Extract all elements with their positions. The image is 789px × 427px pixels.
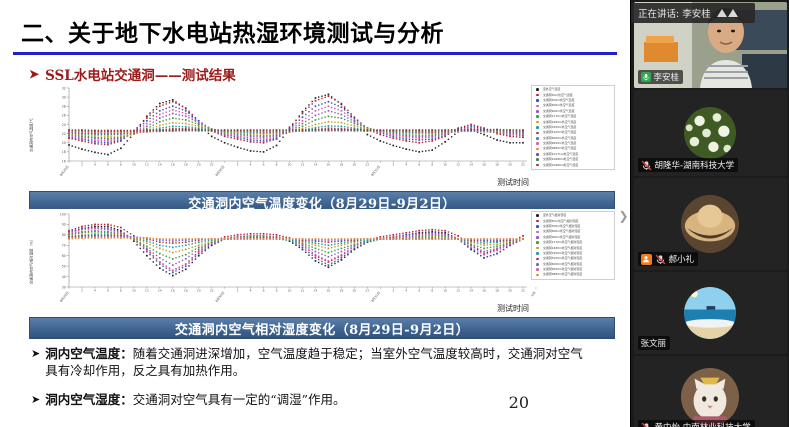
mic-muted-icon [641,422,652,427]
svg-text:2: 2 [81,162,83,166]
legend-color-swatch [534,252,541,255]
svg-text:20: 20 [508,162,512,166]
svg-text:22: 22 [521,288,525,292]
svg-text:22: 22 [521,162,525,166]
svg-text:12: 12 [301,288,305,292]
svg-text:22: 22 [365,162,369,166]
svg-text:30: 30 [62,285,66,289]
list-item: ➤ 洞内空气温度：随着交通洞进深增加，空气温度趋于稳定；当室外空气温度较高时，交… [31,345,591,379]
svg-text:14: 14 [158,162,162,166]
svg-text:16: 16 [62,159,66,163]
participant-name: 郝小礼 [669,253,695,265]
svg-text:2: 2 [392,162,394,166]
legend-label: 交通洞9880m处空气温度 [543,146,576,151]
svg-text:10: 10 [288,162,292,166]
svg-text:16: 16 [171,288,175,292]
bullet-term: 洞内空气湿度： [45,392,133,407]
list-item: ➤ 洞内空气湿度：交通洞对空气具有一定的“调湿”作用。 [31,391,591,408]
svg-text:12: 12 [456,288,460,292]
legend-color-swatch [534,110,541,113]
screen-root: 二、关于地下水电站热湿环境测试与分析 ➤ SSL水电站交通洞——测试结果 161… [0,0,789,427]
slide-title-box: 二、关于地下水电站热湿环境测试与分析 [13,9,617,55]
svg-text:18: 18 [339,288,343,292]
participant-name-chip: 李安桂 [638,70,684,84]
svg-text:60: 60 [62,254,66,258]
temperature-chart-legend: 室外空气温度交通洞50m处空气温度交通洞300m处空气温度交通洞600m处空气温… [531,85,615,170]
legend-color-swatch [534,153,541,156]
avatar [684,107,736,159]
svg-text:8: 8 [120,162,122,166]
svg-text:12: 12 [145,162,149,166]
legend-color-swatch [534,137,541,140]
svg-text:4: 4 [405,162,407,166]
svg-text:18: 18 [62,150,66,154]
svg-text:10: 10 [132,162,136,166]
legend-color-swatch [534,115,541,118]
svg-text:2: 2 [81,288,83,292]
svg-text:16: 16 [327,288,331,292]
svg-text:8: 8 [276,162,278,166]
svg-text:16: 16 [482,288,486,292]
active-speaker-banner: 正在讲话: 李安桂 [631,3,755,23]
shared-screen-slide: 二、关于地下水电站热湿环境测试与分析 ➤ SSL水电站交通洞——测试结果 161… [0,0,630,427]
participant-tile-list: 李安桂胡隆华-湖南科技大学郝小礼张文丽黄中怡 中南林业科技大学 [631,2,789,427]
legend-label: 交通洞2480m处空气温度 [543,120,576,125]
svg-text:14: 14 [469,162,473,166]
svg-text:4: 4 [94,288,96,292]
participant-name: 李安桂 [654,71,680,83]
legend-color-swatch [534,104,541,107]
legend-color-swatch [534,236,541,239]
svg-text:70: 70 [62,244,66,248]
legend-color-swatch [534,164,541,167]
participant-tile[interactable]: 张文丽 [634,272,787,354]
legend-color-swatch [534,142,541,145]
slide-subheading-text: SSL水电站交通洞——测试结果 [45,64,236,84]
participant-name-chip: 黄中怡 中南林业科技大学 [638,420,755,427]
legend-color-swatch [534,99,541,102]
svg-text:24: 24 [62,123,66,127]
svg-text:32: 32 [62,86,66,90]
svg-text:8: 8 [276,288,278,292]
bullet-term: 洞内空气温度： [45,346,133,361]
svg-text:6: 6 [107,288,109,292]
svg-text:2: 2 [237,288,239,292]
legend-label: 室外空气温度 [543,87,560,92]
svg-text:8月31日: 8月31日 [370,291,381,303]
svg-text:26: 26 [62,114,66,118]
avatar [681,195,739,253]
legend-color-swatch [534,131,541,134]
svg-text:22: 22 [210,162,214,166]
svg-text:8月31日: 8月31日 [370,165,381,177]
legend-color-swatch [534,247,541,250]
legend-color-swatch [534,121,541,124]
mic-muted-icon [655,254,666,265]
legend-color-swatch [534,225,541,228]
svg-text:6: 6 [418,288,420,292]
legend-label: 交通洞6000m处空气温度 [543,136,576,141]
legend-color-swatch [534,220,541,223]
participant-name: 黄中怡 中南林业科技大学 [655,421,751,427]
chevron-right-icon[interactable]: ❯ [617,203,630,229]
svg-text:18: 18 [495,162,499,166]
svg-text:22: 22 [62,132,66,136]
avatar [681,368,739,426]
legend-color-swatch [534,257,541,260]
svg-text:20: 20 [62,141,66,145]
participant-tile[interactable]: 黄中怡 中南林业科技大学 [634,356,787,427]
participant-name-chip: 郝小礼 [638,252,699,266]
temperature-chart-plot: 1618202224262830328月29日24681012141618202… [29,83,615,187]
temperature-chart-ylabel: 交通洞内空气温度/℃ [30,100,35,170]
participant-name: 张文丽 [641,337,667,349]
legend-color-swatch [534,88,541,91]
legend-label: 交通洞2480m处空气相对湿度 [543,246,582,251]
legend-label: 交通洞5100m处空气温度 [543,130,576,135]
svg-text:4: 4 [250,162,252,166]
legend-entry: 交通洞10980m处空气温度 [534,162,612,167]
svg-text:80: 80 [62,233,66,237]
host-badge-icon [641,254,652,265]
legend-color-swatch [534,214,541,217]
svg-text:40: 40 [62,275,66,279]
legend-label: 交通洞600m处空气温度 [543,103,574,108]
slide-subheading: ➤ SSL水电站交通洞——测试结果 [29,64,236,84]
legend-label: 交通洞9880m处空气相对湿度 [543,272,582,277]
participant-name-chip: 胡隆华-湖南科技大学 [638,158,739,172]
svg-text:6: 6 [263,162,265,166]
svg-text:100: 100 [60,212,66,216]
legend-color-swatch [534,230,541,233]
svg-text:10: 10 [288,288,292,292]
legend-label: 交通洞900m处空气温度 [543,109,574,114]
svg-text:14: 14 [469,288,473,292]
legend-label: 交通洞600m处空气相对湿度 [543,229,580,234]
temperature-chart-xlabel: 测试时间 [497,177,529,188]
humidity-chart: 304050607080901008月29日246810121416182022… [29,209,615,313]
svg-text:9月: 9月 [530,291,536,298]
svg-text:8月29日: 8月29日 [59,165,70,177]
svg-text:8: 8 [431,288,433,292]
svg-text:20: 20 [352,162,356,166]
legend-color-swatch [534,268,541,271]
legend-label: 交通洞3450m处空气温度 [543,125,576,130]
participant-tile[interactable]: 胡隆华-湖南科技大学 [634,90,787,176]
svg-text:4: 4 [250,288,252,292]
svg-text:16: 16 [482,162,486,166]
humidity-chart-legend: 室外空气相对湿度交通洞50m处空气相对湿度交通洞300m处空气相对湿度交通洞60… [531,211,615,280]
legend-label: 交通洞900m处空气相对湿度 [543,235,580,240]
legend-color-swatch [534,147,541,150]
svg-text:8月30日: 8月30日 [215,291,226,303]
mic-muted-icon [641,160,652,171]
svg-text:8: 8 [120,288,122,292]
svg-text:20: 20 [508,288,512,292]
svg-text:10: 10 [132,288,136,292]
legend-entry: 交通洞9880m处空气相对湿度 [534,272,612,277]
svg-text:6: 6 [107,162,109,166]
zoom-logo-icon [716,8,742,19]
svg-text:22: 22 [210,288,214,292]
svg-text:10: 10 [443,288,447,292]
svg-text:6: 6 [263,288,265,292]
svg-text:22: 22 [365,288,369,292]
svg-text:14: 14 [158,288,162,292]
legend-label: 交通洞5100m处空气相对湿度 [543,256,582,261]
svg-text:30: 30 [62,95,66,99]
legend-label: 交通洞6650m处空气相对湿度 [543,267,582,272]
svg-text:50: 50 [62,264,66,268]
participant-name: 胡隆华-湖南科技大学 [655,159,735,171]
svg-text:2: 2 [237,162,239,166]
legend-label: 交通洞3450m处空气相对湿度 [543,251,582,256]
svg-text:8月30日: 8月30日 [215,165,226,177]
legend-color-swatch [534,94,541,97]
legend-label: 交通洞300m处空气温度 [543,98,574,103]
svg-text:18: 18 [184,288,188,292]
svg-text:14: 14 [314,288,318,292]
svg-text:20: 20 [197,162,201,166]
legend-label: 室外空气相对湿度 [543,213,566,218]
bullet-arrow-icon: ➤ [29,67,39,81]
svg-text:6: 6 [418,162,420,166]
svg-text:8月29日: 8月29日 [59,291,70,303]
humidity-chart-xlabel: 测试时间 [497,303,529,314]
legend-label: 交通洞6650m处空气温度 [543,141,576,146]
svg-text:12: 12 [301,162,305,166]
svg-text:4: 4 [94,162,96,166]
legend-color-swatch [534,241,541,244]
temperature-chart: 1618202224262830328月29日24681012141618202… [29,83,615,187]
conclusion-list: ➤ 洞内空气温度：随着交通洞进深增加，空气温度趋于稳定；当室外空气温度较高时，交… [31,345,591,420]
svg-text:18: 18 [495,288,499,292]
bullet-arrow-icon: ➤ [31,391,40,408]
legend-label: 交通洞1170m处空气温度 [543,114,576,119]
participant-video [634,356,787,427]
svg-text:28: 28 [62,105,66,109]
legend-label: 交通洞10980m处空气温度 [543,163,578,168]
avatar [684,287,736,339]
legend-color-swatch [534,263,541,266]
svg-text:18: 18 [339,162,343,166]
legend-label: 交通洞10171m处空气温度 [543,152,578,157]
svg-text:16: 16 [171,162,175,166]
svg-text:4: 4 [405,288,407,292]
humidity-chart-caption: 交通洞内空气相对湿度变化（8月29日-9月2日） [29,317,615,339]
bullet-arrow-icon: ➤ [31,345,40,362]
page-title: 二、关于地下水电站热湿环境测试与分析 [13,14,444,48]
svg-text:8: 8 [431,162,433,166]
mic-on-icon [641,72,651,82]
svg-text:90: 90 [62,223,66,227]
legend-label: 交通洞1170m处空气相对湿度 [543,240,582,245]
legend-label: 交通洞50m处空气相对湿度 [543,219,578,224]
svg-text:12: 12 [456,162,460,166]
participant-name-chip: 张文丽 [638,336,671,350]
bullet-text: 交通洞对空气具有一定的“调湿”作用。 [133,392,346,407]
slide-page-number: 20 [509,393,529,412]
legend-color-swatch [534,126,541,129]
legend-label: 交通洞300m处空气相对湿度 [543,224,580,229]
participant-tile[interactable]: 郝小礼 [634,178,787,270]
legend-label: 交通洞50m处空气温度 [543,93,573,98]
active-speaker-label: 正在讲话: 李安桂 [638,6,711,20]
svg-text:16: 16 [327,162,331,166]
legend-label: 交通洞6000m处空气相对湿度 [543,262,582,267]
humidity-chart-ylabel: 交通洞内空气相对湿度（%） [30,226,35,296]
legend-label: 交通洞10680m处空气温度 [543,157,578,162]
slide-content: 二、关于地下水电站热湿环境测试与分析 ➤ SSL水电站交通洞——测试结果 161… [5,5,625,422]
humidity-chart-plot: 304050607080901008月29日246810121416182022… [29,209,615,313]
legend-color-swatch [534,158,541,161]
svg-text:14: 14 [314,162,318,166]
svg-text:2: 2 [392,288,394,292]
svg-text:10: 10 [443,162,447,166]
svg-text:20: 20 [197,288,201,292]
legend-color-swatch [534,273,541,276]
participant-panel: ❯ 正在讲话: 李安桂 李安桂胡隆华-湖南科技大学郝小礼张文丽黄中怡 中南林业科… [630,0,789,427]
svg-text:12: 12 [145,288,149,292]
svg-text:18: 18 [184,162,188,166]
svg-text:20: 20 [352,288,356,292]
